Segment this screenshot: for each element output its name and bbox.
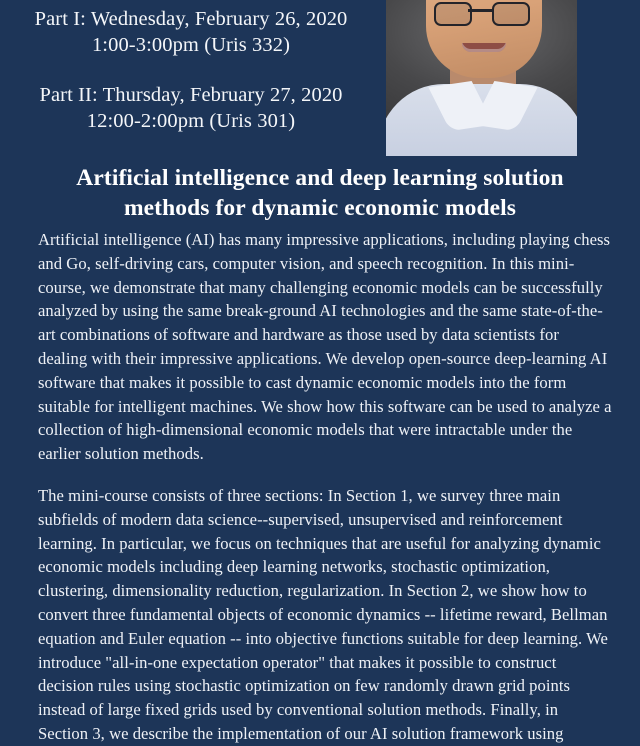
title-line-2: methods for dynamic economic models: [18, 193, 622, 223]
glasses-bridge-icon: [468, 9, 492, 12]
header-zone: Part I: Wednesday, February 26, 2020 1:0…: [0, 0, 640, 158]
part1-date-line: Part I: Wednesday, February 26, 2020: [0, 6, 382, 32]
schedule-part-2: Part II: Thursday, February 27, 2020 12:…: [0, 82, 382, 134]
abstract-paragraph-1: Artificial intelligence (AI) has many im…: [38, 228, 612, 466]
glasses-left-lens-icon: [434, 2, 472, 26]
poster-canvas: Part I: Wednesday, February 26, 2020 1:0…: [0, 0, 640, 640]
speaker-headshot-photo: [386, 0, 577, 156]
schedule-block: Part I: Wednesday, February 26, 2020 1:0…: [0, 0, 382, 158]
abstract-paragraph-2: The mini-course consists of three sectio…: [38, 484, 612, 746]
glasses-right-lens-icon: [492, 2, 530, 26]
schedule-part-1: Part I: Wednesday, February 26, 2020 1:0…: [0, 6, 382, 58]
part1-time-location-line: 1:00-3:00pm (Uris 332): [0, 32, 382, 58]
title-line-1: Artificial intelligence and deep learnin…: [18, 163, 622, 193]
page-title: Artificial intelligence and deep learnin…: [18, 163, 622, 223]
part2-time-location-line: 12:00-2:00pm (Uris 301): [0, 108, 382, 134]
photo-mouth: [462, 43, 506, 52]
abstract-body: Artificial intelligence (AI) has many im…: [38, 228, 612, 746]
part2-date-line: Part II: Thursday, February 27, 2020: [0, 82, 382, 108]
